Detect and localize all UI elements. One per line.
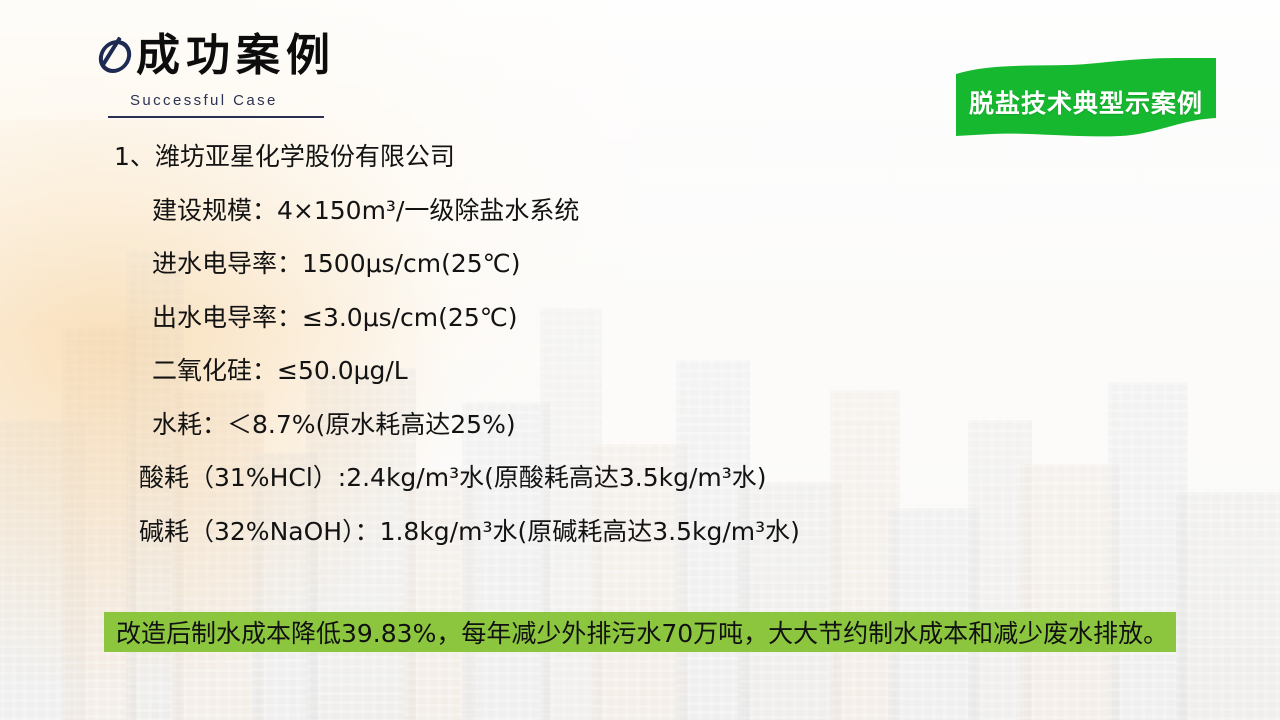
list-item: 酸耗（31%HCl）:2.4kg/m³水(原酸耗高达3.5kg/m³水) <box>0 463 1280 493</box>
content-list: 1、潍坊亚星化学股份有限公司 建设规模：4×150m³/一级除盐水系统 进水电导… <box>0 142 1280 570</box>
slide: 成功案例 Successful Case 脱盐技术典型示案例 1、潍坊亚星化学股… <box>0 0 1280 720</box>
list-item: 进水电导率：1500μs/cm(25℃) <box>0 249 1280 279</box>
list-item: 1、潍坊亚星化学股份有限公司 <box>0 142 1280 172</box>
title-divider <box>108 116 324 118</box>
list-item: 二氧化硅：≤50.0μg/L <box>0 356 1280 386</box>
section-badge-label: 脱盐技术典型示案例 <box>952 84 1220 120</box>
page-title: 成功案例 <box>136 34 336 78</box>
section-badge-flag: 脱盐技术典型示案例 <box>952 56 1220 138</box>
summary-callout-text: 改造后制水成本降低39.83%，每年减少外排污水70万吨，大大节约制水成本和减少… <box>104 614 1168 650</box>
list-item: 碱耗（32%NaOH）：1.8kg/m³水(原碱耗高达3.5kg/m³水) <box>0 517 1280 547</box>
summary-callout: 改造后制水成本降低39.83%，每年减少外排污水70万吨，大大节约制水成本和减少… <box>104 612 1176 652</box>
page-header: 成功案例 Successful Case <box>96 34 336 118</box>
page-subtitle: Successful Case <box>130 92 336 109</box>
list-item: 建设规模：4×150m³/一级除盐水系统 <box>0 196 1280 226</box>
null-set-icon <box>96 36 130 70</box>
title-row: 成功案例 <box>96 34 336 78</box>
list-item: 水耗：＜8.7%(原水耗高达25%) <box>0 410 1280 440</box>
list-item: 出水电导率：≤3.0μs/cm(25℃) <box>0 303 1280 333</box>
